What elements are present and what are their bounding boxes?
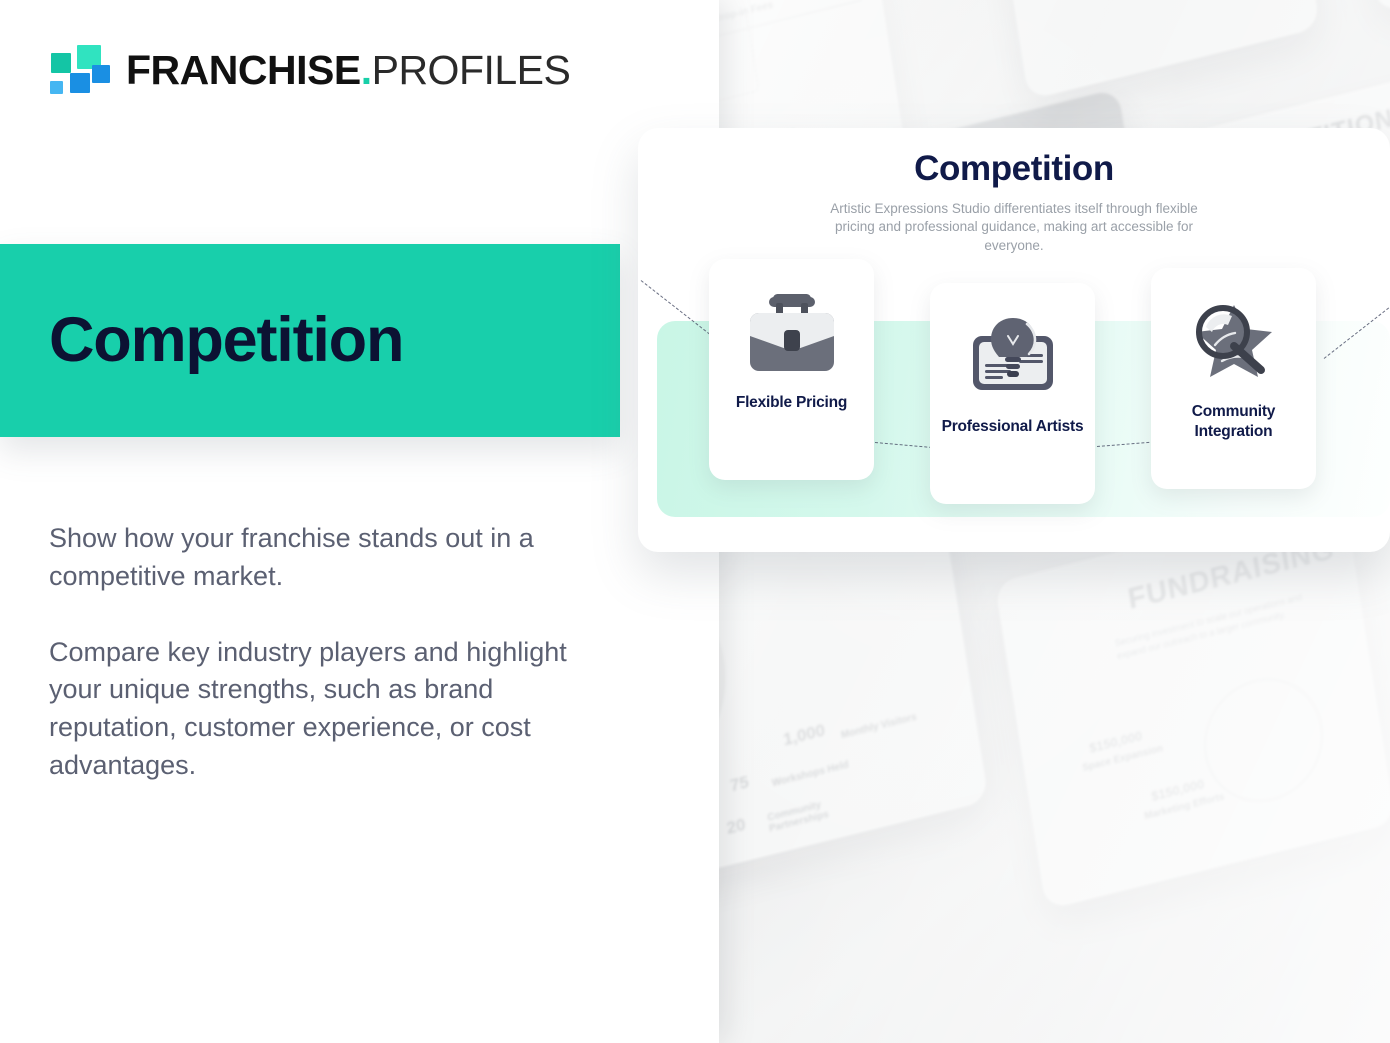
background-metric-value: 20 bbox=[725, 814, 747, 838]
background-slide-partial bbox=[1341, 0, 1390, 13]
logo-squares-icon bbox=[48, 44, 106, 96]
star-magnifier-icon bbox=[1175, 292, 1293, 396]
background-metric-value: 75 bbox=[729, 772, 751, 796]
logo-square-blue-small bbox=[50, 81, 63, 94]
feature-tile-professional-artists[interactable]: Professional Artists bbox=[930, 283, 1095, 504]
briefcase-icon bbox=[733, 283, 851, 387]
brand-name-bold: FRANCHISE bbox=[126, 47, 361, 93]
background-metric-label: Monthly Visitors bbox=[840, 712, 917, 742]
feature-tile-flexible-pricing[interactable]: Flexible Pricing bbox=[709, 259, 874, 480]
feature-tile-community-integration[interactable]: Community Integration bbox=[1151, 268, 1316, 489]
slide-card-title: Competition bbox=[638, 149, 1390, 189]
feature-tile-label: Flexible Pricing bbox=[728, 393, 855, 413]
slide-canvas: Drop-in Fees Session Workshops Commissio… bbox=[0, 0, 1390, 1043]
background-metric-label: Community Partnerships bbox=[767, 791, 858, 835]
left-content-panel: FRANCHISE.PROFILES Competition Show how … bbox=[0, 0, 719, 1043]
brand-name-light: PROFILES bbox=[372, 47, 571, 93]
feature-tile-label: Professional Artists bbox=[934, 417, 1092, 437]
background-metric-label: Workshops Held bbox=[771, 759, 849, 789]
section-title-band: Competition bbox=[0, 244, 620, 437]
background-slide-risks: Limited Resources bbox=[985, 0, 1320, 100]
description-paragraph-2: Compare key industry players and highlig… bbox=[49, 634, 615, 785]
brand-dot: . bbox=[361, 47, 372, 93]
lightbulb-certificate-icon bbox=[954, 307, 1072, 411]
description-copy: Show how your franchise stands out in a … bbox=[49, 520, 615, 785]
page-title: Competition bbox=[49, 309, 403, 372]
brand-logo[interactable]: FRANCHISE.PROFILES bbox=[48, 44, 570, 96]
background-slide-fundraising: FUNDRAISING Securing investment to scale… bbox=[995, 496, 1390, 910]
slide-card-subtitle: Artistic Expressions Studio differentiat… bbox=[814, 200, 1214, 255]
feature-tile-label: Community Integration bbox=[1151, 402, 1316, 442]
logo-square-blue-right bbox=[92, 65, 110, 83]
background-metric-value: 1,000 bbox=[782, 720, 826, 750]
competition-slide-card: Competition Artistic Expressions Studio … bbox=[638, 128, 1390, 552]
description-paragraph-1: Show how your franchise stands out in a … bbox=[49, 520, 615, 596]
brand-wordmark: FRANCHISE.PROFILES bbox=[126, 50, 570, 91]
logo-square-teal-dark bbox=[51, 53, 71, 73]
logo-square-blue bbox=[70, 73, 90, 93]
background-dashed-box bbox=[717, 12, 759, 120]
